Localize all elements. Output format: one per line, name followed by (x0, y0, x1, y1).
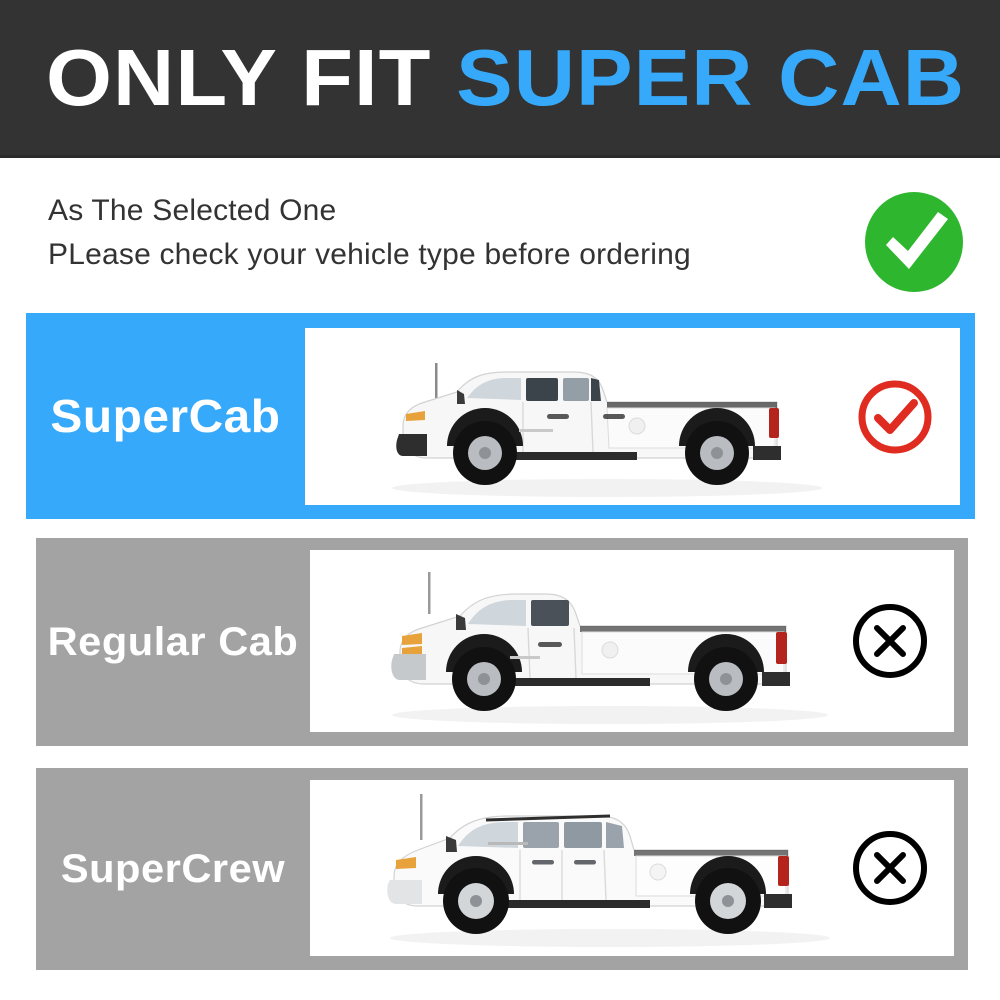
black-x-circle-icon (848, 826, 932, 910)
vehicle-panel-regular-cab (310, 550, 954, 732)
vehicle-panel-supercab (305, 328, 960, 505)
fitment-row-supercab[interactable]: SuperCab (26, 313, 975, 519)
white-pickup-truck-extended-cab-side-view (307, 328, 862, 505)
green-check-circle-icon (862, 190, 966, 294)
page-title-accent: SUPER CAB (456, 33, 965, 122)
white-pickup-truck-regular-cab-side-view (310, 550, 865, 732)
row-label-supercab: SuperCab (20, 393, 310, 439)
header-banner: ONLY FIT SUPER CAB (0, 0, 1000, 158)
red-check-circle-icon (854, 376, 936, 458)
notice-line-1: As The Selected One (48, 189, 691, 233)
row-label-regular-cab: Regular Cab (31, 622, 316, 662)
row-label-supercrew: SuperCrew (31, 849, 316, 889)
fitment-row-supercrew[interactable]: SuperCrew (36, 768, 968, 970)
page-title-primary: ONLY FIT (46, 33, 431, 122)
notice-block: As The Selected One PLease check your ve… (0, 158, 1000, 308)
notice-line-2: PLease check your vehicle type before or… (48, 233, 691, 277)
fitment-row-regular-cab[interactable]: Regular Cab (36, 538, 968, 746)
vehicle-panel-supercrew (310, 780, 954, 956)
black-x-circle-icon (848, 599, 932, 683)
white-pickup-truck-crew-cab-side-view (310, 780, 865, 956)
page-title: ONLY FIT SUPER CAB (46, 38, 965, 118)
notice-text: As The Selected One PLease check your ve… (48, 189, 691, 277)
